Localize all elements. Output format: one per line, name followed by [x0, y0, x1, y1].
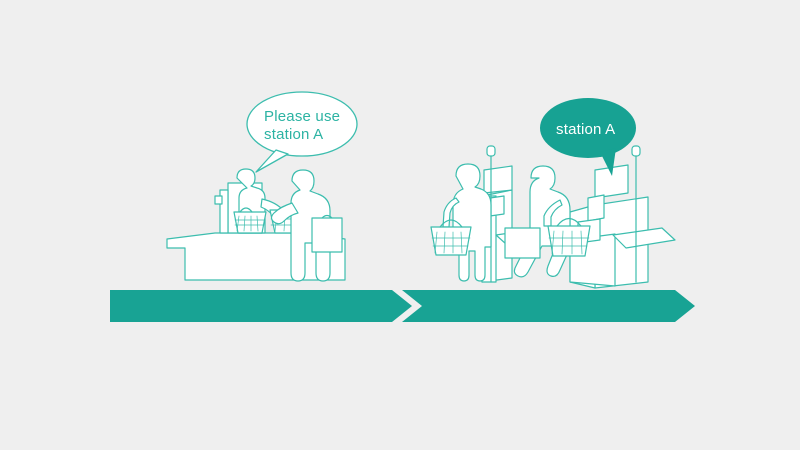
kiosk-2-scanner [588, 195, 604, 221]
cash-register-button [215, 196, 222, 204]
speech-bubble-left-line2: station A [264, 126, 323, 143]
briefcase-man [505, 228, 540, 258]
progress-arrow [110, 290, 695, 322]
speech-bubble-left-tail [256, 150, 288, 172]
scene-artwork: Please use station A [0, 0, 800, 450]
status-light-1 [487, 146, 495, 156]
scene-left-group [167, 169, 345, 281]
illustration-canvas: Please use station A [0, 0, 800, 450]
kiosk-monitor-1 [484, 166, 512, 193]
speech-bubble-left-line1: Please use [264, 108, 340, 125]
status-light-2 [632, 146, 640, 156]
kiosk-1-scanner [490, 196, 504, 216]
speech-bubble-right-line1: station A [556, 121, 615, 138]
arrow-segment-1 [110, 290, 412, 322]
scene-right-group [431, 146, 675, 288]
briefcase [312, 218, 342, 252]
shopping-basket-left [234, 208, 266, 233]
speech-bubble-right: station A [540, 98, 636, 176]
speech-bubble-left: Please use station A [247, 92, 357, 172]
arrow-segment-2 [402, 290, 695, 322]
